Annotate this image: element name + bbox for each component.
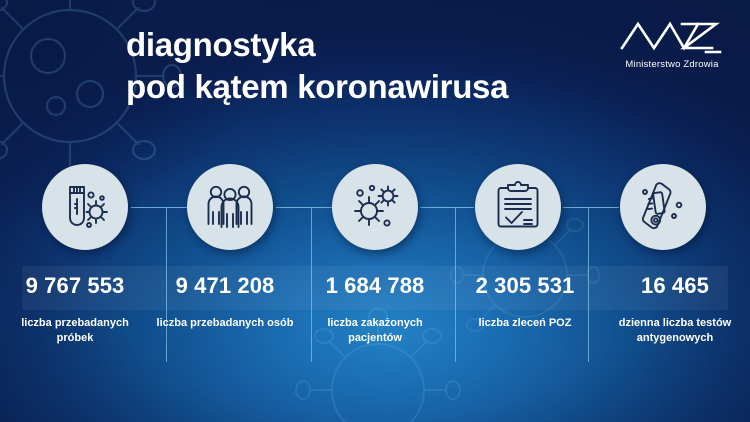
connector-line-2-3 [276, 207, 332, 208]
stat-label-3: liczba zakażonych pacjentów [306, 316, 444, 346]
clipboard-check-icon [491, 180, 545, 234]
test-tube-virus-icon [58, 180, 112, 234]
mz-logo-icon [620, 16, 724, 56]
connector-line-1-2 [131, 207, 187, 208]
stat-icon-circle-3 [332, 164, 418, 250]
antigen-test-cassette-icon [636, 180, 690, 234]
stat-label-1: liczba przebadanych próbek [6, 316, 144, 346]
virus-particles-icon [348, 180, 402, 234]
stat-icon-circle-4 [475, 164, 561, 250]
stat-label-5: dzienna liczba testów antygenowych [606, 316, 744, 346]
stat-cell-2: 9 471 208 liczba przebadanych osób [150, 262, 300, 372]
stat-icon-circle-2 [187, 164, 273, 250]
stat-value-4: 2 305 531 [476, 262, 575, 310]
connector-line-4-5 [563, 207, 619, 208]
stat-cell-1: 9 767 553 liczba przebadanych próbek [0, 262, 150, 372]
stat-icon-circle-1 [42, 164, 128, 250]
stat-cell-3: 1 684 788 liczba zakażonych pacjentów [300, 262, 450, 372]
stat-cell-5: 16 465 dzienna liczba testów antygenowyc… [600, 262, 750, 372]
people-group-icon [203, 180, 257, 234]
ministry-logo-caption: Ministerstwo Zdrowia [612, 59, 732, 70]
connector-line-3-4 [420, 207, 474, 208]
stat-label-2: liczba przebadanych osób [157, 316, 294, 331]
stat-icon-circle-5 [620, 164, 706, 250]
infographic-root: diagnostyka pod kątem koronawirusa Minis… [0, 0, 750, 422]
page-title: diagnostyka pod kątem koronawirusa [126, 24, 508, 108]
stat-value-2: 9 471 208 [176, 262, 275, 310]
stat-value-1: 9 767 553 [26, 262, 125, 310]
stats-row: 9 767 553 liczba przebadanych próbek 9 4… [0, 262, 750, 372]
stat-value-3: 1 684 788 [326, 262, 425, 310]
stat-value-5: 16 465 [641, 262, 709, 310]
stat-label-4: liczba zleceń POZ [479, 316, 572, 331]
stat-cell-4: 2 305 531 liczba zleceń POZ [450, 262, 600, 372]
ministry-logo: Ministerstwo Zdrowia [612, 16, 732, 70]
